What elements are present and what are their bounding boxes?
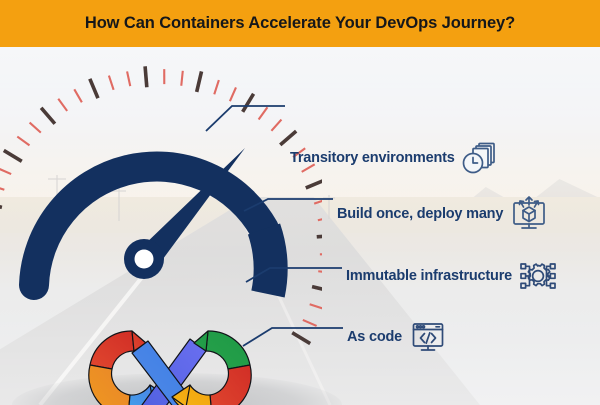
header-bar: How Can Containers Accelerate Your DevOp… — [0, 0, 600, 47]
callout-transitory-environments[interactable]: Transitory environments — [290, 138, 501, 178]
callout-as-code[interactable]: As code — [347, 317, 448, 357]
poster-body: Transitory environments Build once, depl… — [0, 47, 600, 405]
connector-line-3 — [246, 268, 342, 282]
connector-line-2 — [244, 199, 333, 211]
page-title: How Can Containers Accelerate Your DevOp… — [85, 14, 515, 33]
monitor-cube-icon — [509, 194, 549, 234]
browser-code-icon — [408, 317, 448, 357]
devops-infinity-loop — [72, 319, 268, 405]
connector-line-1 — [206, 106, 285, 131]
callout-label: Immutable infrastructure — [346, 268, 512, 284]
callout-build-once-deploy-many[interactable]: Build once, deploy many — [337, 194, 549, 234]
gear-nodes-icon — [518, 256, 558, 296]
callout-label: Build once, deploy many — [337, 206, 503, 222]
clock-documents-icon — [461, 138, 501, 178]
infographic-poster: How Can Containers Accelerate Your DevOp… — [0, 0, 600, 405]
callout-immutable-infrastructure[interactable]: Immutable infrastructure — [346, 256, 558, 296]
callout-label: Transitory environments — [290, 150, 455, 166]
callout-label: As code — [347, 329, 402, 345]
